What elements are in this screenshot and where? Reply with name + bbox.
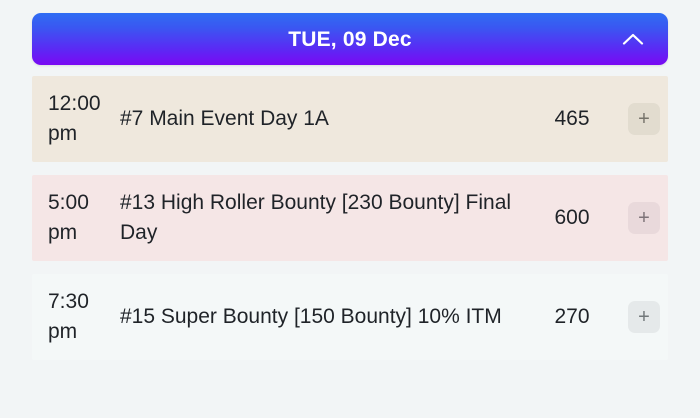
date-header[interactable]: TUE, 09 Dec <box>32 13 668 65</box>
event-entrant-count: 600 <box>524 206 620 230</box>
date-header-title: TUE, 09 Dec <box>288 29 412 50</box>
event-row[interactable]: 7:30 pm #15 Super Bounty [150 Bounty] 10… <box>32 274 668 360</box>
add-event-button[interactable]: + <box>620 301 668 333</box>
event-time: 12:00 pm <box>32 89 120 150</box>
event-entrant-count: 465 <box>524 107 620 131</box>
collapse-toggle-button[interactable] <box>612 13 654 65</box>
add-event-button[interactable]: + <box>620 202 668 234</box>
plus-icon: + <box>628 103 660 135</box>
plus-icon: + <box>628 301 660 333</box>
event-row[interactable]: 12:00 pm #7 Main Event Day 1A 465 + <box>32 76 668 162</box>
chevron-up-icon <box>622 32 644 46</box>
schedule-page: TUE, 09 Dec 12:00 pm #7 Main Event Day 1… <box>0 13 700 418</box>
event-list: 12:00 pm #7 Main Event Day 1A 465 + 5:00… <box>32 76 668 360</box>
event-title: #13 High Roller Bounty [230 Bounty] Fina… <box>120 188 524 249</box>
event-row[interactable]: 5:00 pm #13 High Roller Bounty [230 Boun… <box>32 175 668 261</box>
plus-icon: + <box>628 202 660 234</box>
event-entrant-count: 270 <box>524 305 620 329</box>
add-event-button[interactable]: + <box>620 103 668 135</box>
event-title: #15 Super Bounty [150 Bounty] 10% ITM <box>120 302 524 332</box>
event-time: 7:30 pm <box>32 287 120 348</box>
event-title: #7 Main Event Day 1A <box>120 104 524 134</box>
event-time: 5:00 pm <box>32 188 120 249</box>
